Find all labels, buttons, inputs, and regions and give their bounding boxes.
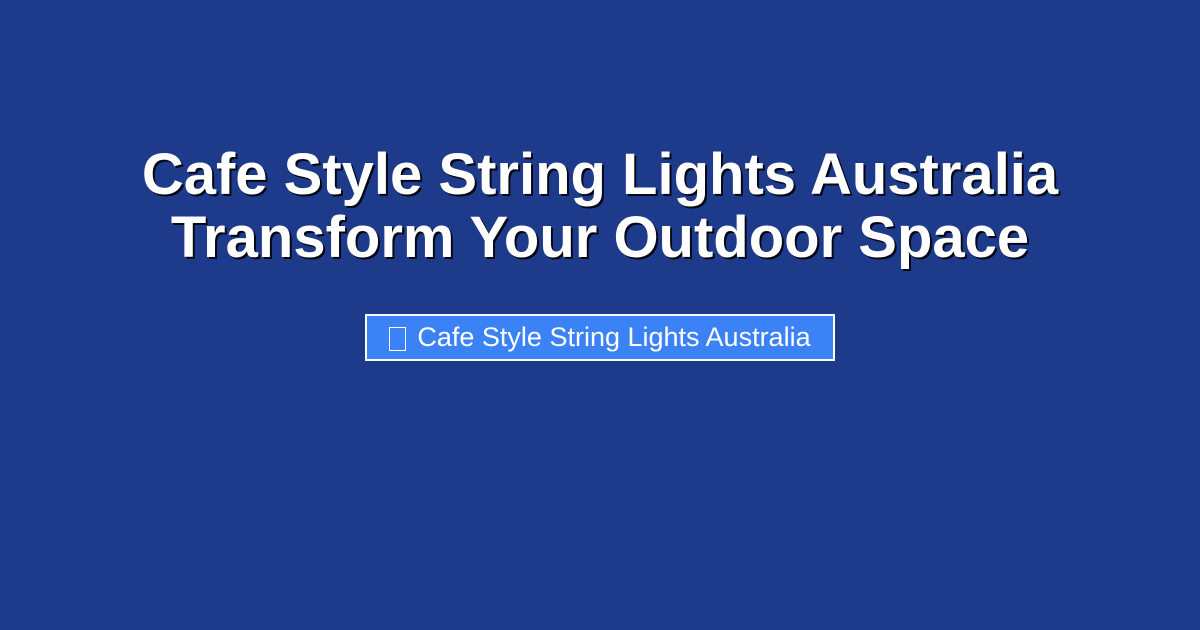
cta-badge-button[interactable]: Cafe Style String Lights Australia [365,314,834,361]
missing-glyph-box-icon [389,327,406,351]
content-stack: Cafe Style String Lights Australia Trans… [0,0,1200,630]
og-image-card: Cafe Style String Lights Australia Trans… [0,0,1200,630]
cta-badge-label: Cafe Style String Lights Australia [417,324,810,351]
page-title: Cafe Style String Lights Australia Trans… [70,143,1130,269]
